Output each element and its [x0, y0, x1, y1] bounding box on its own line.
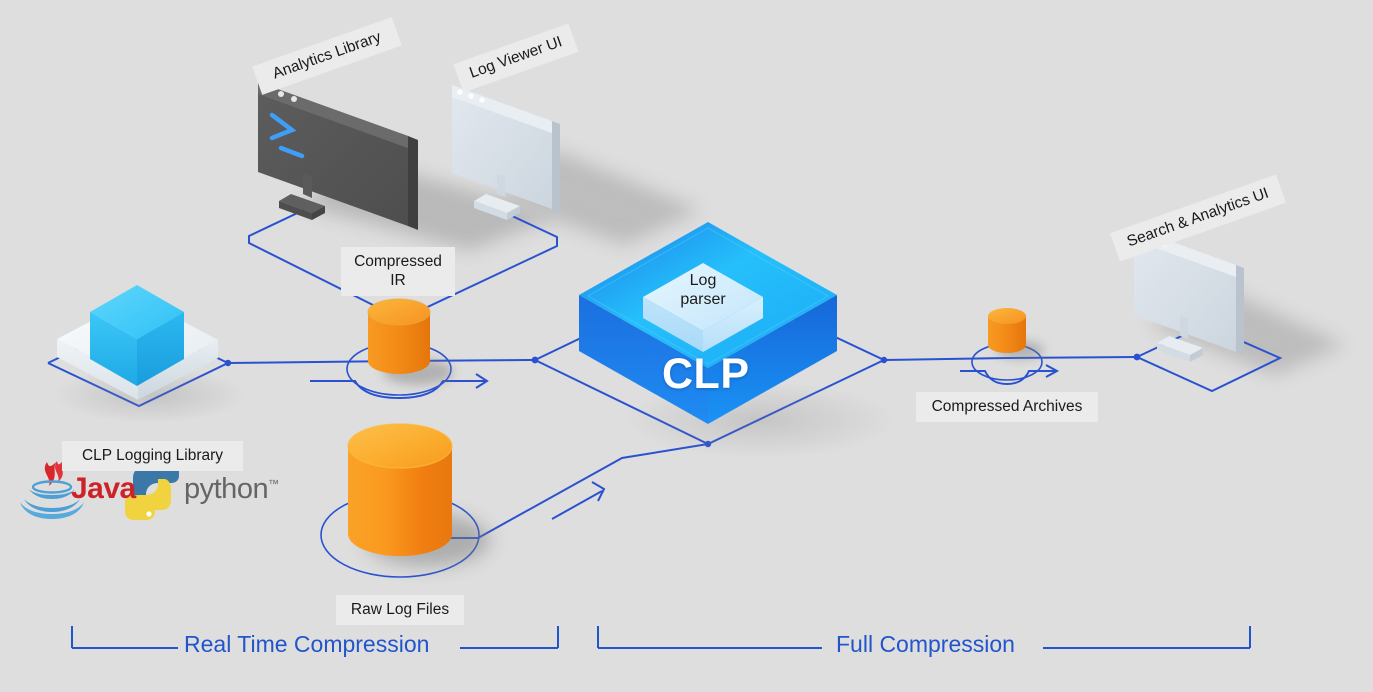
label-compressed-ir-line1: Compressed	[350, 252, 446, 271]
java-wordmark: Java	[71, 472, 136, 506]
log-parser-line2: parser	[643, 290, 763, 309]
bracket-label-full-compression: Full Compression	[836, 631, 1015, 658]
node-compressed-archives[interactable]	[988, 308, 1044, 359]
diagram-canvas: Analytics Library Log Viewer UI Search &…	[0, 0, 1373, 692]
label-raw-log-files: Raw Log Files	[336, 595, 464, 625]
java-wordmark-text: Java	[71, 472, 136, 505]
log-parser-line1: Log	[643, 271, 763, 290]
node-clp-block[interactable]	[579, 222, 895, 458]
flow-arrow-raw-logs	[552, 482, 604, 519]
connector-clp-to-archives	[884, 358, 1007, 360]
label-clp-logging-library: CLP Logging Library	[62, 441, 243, 471]
python-trademark-mark: ™	[268, 478, 279, 490]
node-raw-log-files[interactable]	[348, 424, 490, 566]
python-wordmark: python™	[184, 473, 279, 506]
clp-block-title: CLP	[662, 350, 750, 399]
label-compressed-ir: Compressed IR	[341, 247, 455, 296]
label-compressed-ir-line2: IR	[350, 271, 446, 290]
label-compressed-archives: Compressed Archives	[916, 392, 1098, 422]
log-parser-cube-label: Log parser	[643, 271, 763, 309]
node-clp-logging-library[interactable]	[55, 285, 245, 423]
python-wordmark-text: python	[184, 473, 268, 505]
bracket-label-real-time-compression: Real Time Compression	[184, 631, 429, 658]
node-compressed-ir[interactable]	[368, 299, 453, 385]
diagram-graphics	[0, 0, 1373, 692]
